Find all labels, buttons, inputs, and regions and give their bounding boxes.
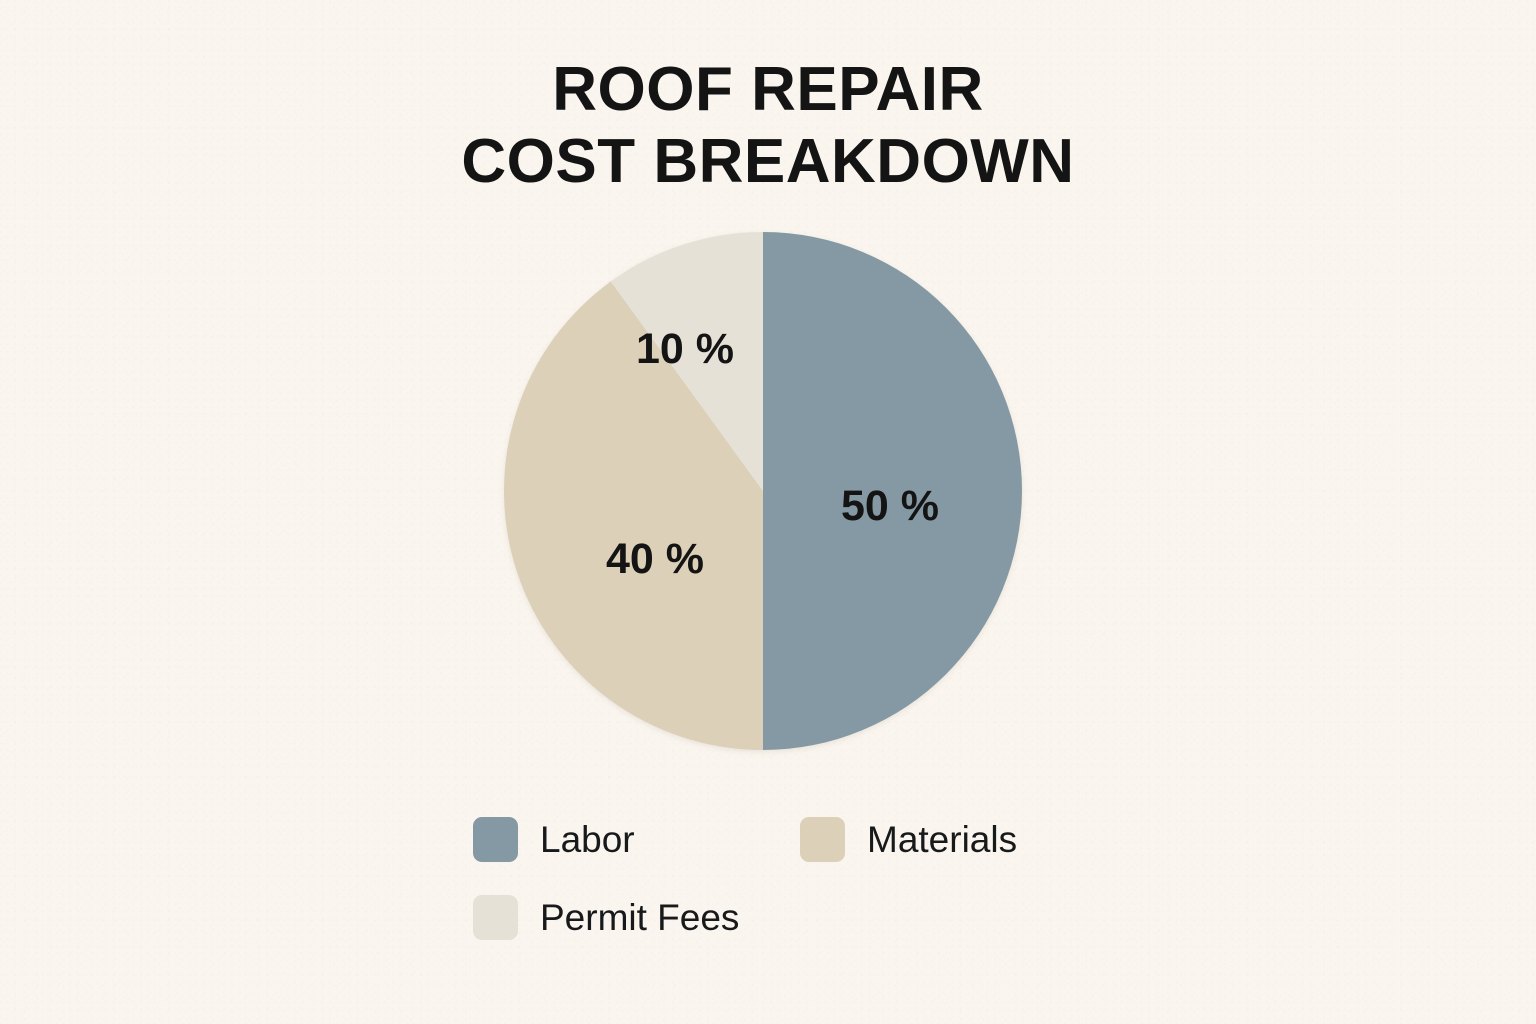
legend-label-materials: Materials (867, 821, 1017, 858)
title-line-2: COST BREAKDOWN (0, 126, 1536, 198)
legend-item-labor[interactable]: Labor (473, 800, 800, 878)
legend-swatch-permit-fees (473, 895, 518, 940)
pie-slice-label-permit-fees: 10 % (636, 325, 734, 373)
pie-slice-label-materials: 40 % (606, 535, 704, 583)
title-line-1: ROOF REPAIR (0, 54, 1536, 126)
pie-slice-label-labor: 50 % (841, 482, 939, 530)
page-title: ROOF REPAIR COST BREAKDOWN (0, 54, 1536, 198)
pie-chart-svg: 50 % 40 % 10 % (504, 232, 1022, 750)
legend-label-permit-fees: Permit Fees (540, 899, 739, 936)
legend-label-labor: Labor (540, 821, 635, 858)
legend-item-permit-fees[interactable]: Permit Fees (473, 878, 800, 956)
chart-legend: Labor Materials Permit Fees (473, 800, 1113, 956)
legend-swatch-labor (473, 817, 518, 862)
chart-canvas: ROOF REPAIR COST BREAKDOWN 50 % 40 % 10 … (0, 0, 1536, 1024)
pie-chart: 50 % 40 % 10 % (504, 232, 1022, 750)
legend-item-materials[interactable]: Materials (800, 800, 1113, 878)
legend-swatch-materials (800, 817, 845, 862)
